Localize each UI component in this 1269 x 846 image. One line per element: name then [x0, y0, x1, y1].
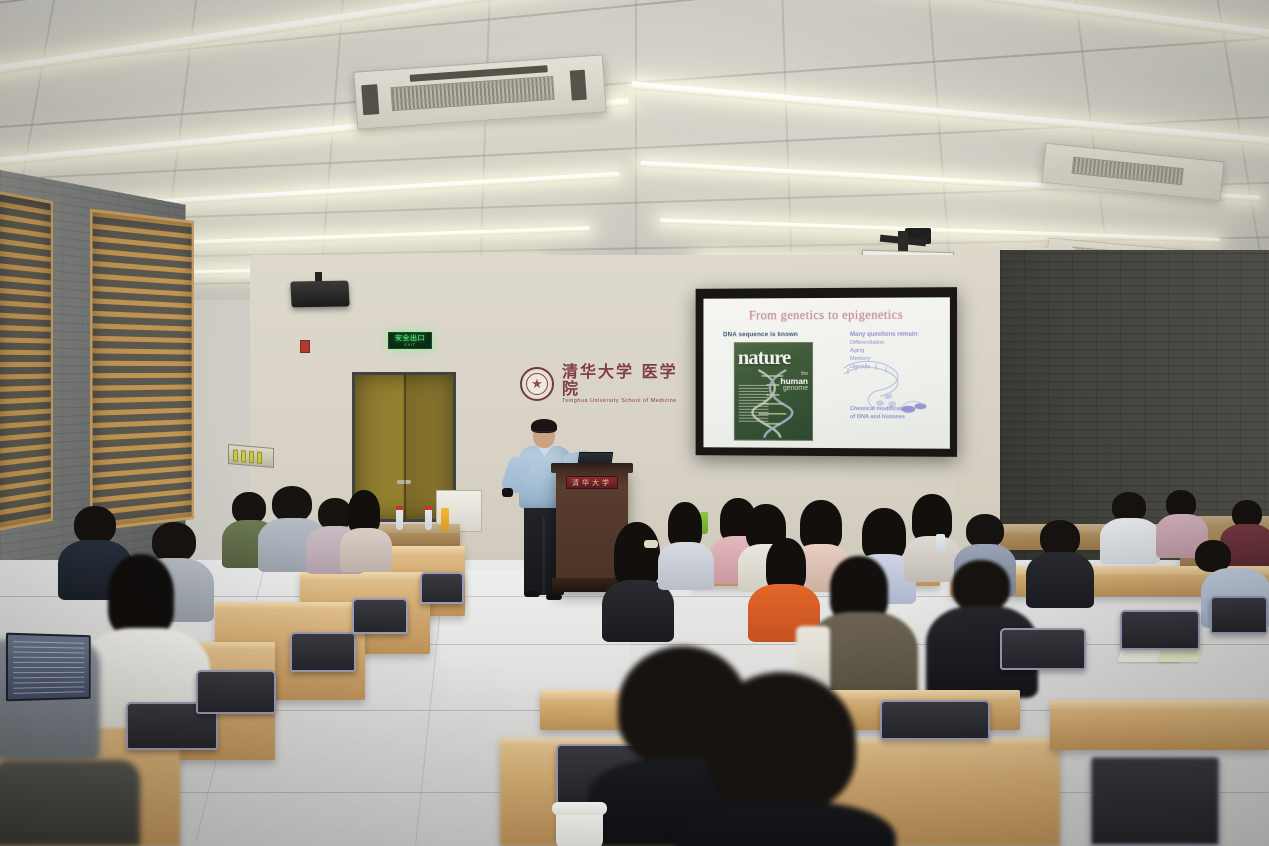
nature-magazine-cover: nature the human genome — [734, 342, 813, 441]
water-bottle — [396, 508, 403, 530]
presenter-shoe — [524, 591, 540, 597]
paper-sheet — [1158, 650, 1202, 662]
student-laptop[interactable] — [6, 633, 91, 702]
nature-wordmark: nature — [738, 347, 790, 367]
wall-switch-panel[interactable] — [228, 444, 274, 468]
fire-alarm-box — [300, 340, 310, 353]
emergency-exit-sign: 安全出口 EXIT — [388, 332, 432, 349]
water-bottle — [936, 534, 945, 552]
dna-helix-icon — [751, 368, 802, 440]
coffee-cup-lid — [552, 802, 607, 815]
slide-question-item: Aging — [850, 347, 950, 355]
lecture-hall-photo: 安全出口 EXIT 清华大学 医学院 Tsinghua University S… — [0, 0, 1269, 846]
student-desk — [1050, 700, 1269, 750]
ceiling-light — [622, 0, 1269, 45]
chair[interactable] — [1000, 628, 1086, 670]
podium-plaque: 清华大学 — [566, 476, 618, 489]
chair[interactable] — [290, 632, 356, 672]
exit-sign-chinese: 安全出口 — [395, 335, 425, 342]
ceiling-ac-unit — [353, 54, 606, 129]
slide-surface: From genetics to epigenetics DNA sequenc… — [703, 297, 949, 448]
slide-questions-heading: Many questions remain: — [850, 331, 950, 339]
chair[interactable] — [420, 572, 464, 604]
door-handle[interactable] — [397, 480, 411, 484]
water-bottle — [425, 508, 432, 530]
presentation-clicker[interactable] — [502, 488, 513, 497]
wood-slat-screen — [0, 190, 53, 531]
presenter-shoe — [546, 594, 562, 600]
university-logo: 清华大学 医学院 Tsinghua University School of M… — [520, 362, 680, 406]
chair[interactable] — [352, 598, 408, 634]
wall-speaker — [290, 281, 349, 308]
wood-slat-screen — [90, 209, 194, 532]
chair[interactable] — [880, 700, 990, 740]
juice-bottle — [441, 508, 449, 531]
slide-left-caption: DNA sequence is known — [723, 331, 798, 338]
university-logo-chinese: 清华大学 医学院 — [562, 363, 680, 397]
projection-screen: From genetics to epigenetics DNA sequenc… — [696, 287, 957, 457]
slide-bottom-caption-line2: of DNA and histones — [850, 413, 950, 421]
university-logo-english: Tsinghua University School of Medicine — [562, 397, 680, 405]
chair[interactable] — [1090, 756, 1220, 846]
chair[interactable] — [1120, 610, 1200, 650]
ceiling-light — [631, 81, 1269, 146]
slide-title: From genetics to epigenetics — [703, 307, 949, 323]
exit-sign-english: EXIT — [404, 342, 415, 347]
glasses-icon — [534, 431, 553, 435]
chair[interactable] — [1210, 596, 1268, 634]
slide-bottom-caption: Chemical modifications of DNA and histon… — [850, 405, 950, 421]
chair[interactable] — [196, 670, 276, 714]
laptop-screen-content — [13, 640, 84, 694]
university-seal-icon — [520, 367, 554, 401]
slide-question-item: Differentiation — [850, 339, 950, 347]
